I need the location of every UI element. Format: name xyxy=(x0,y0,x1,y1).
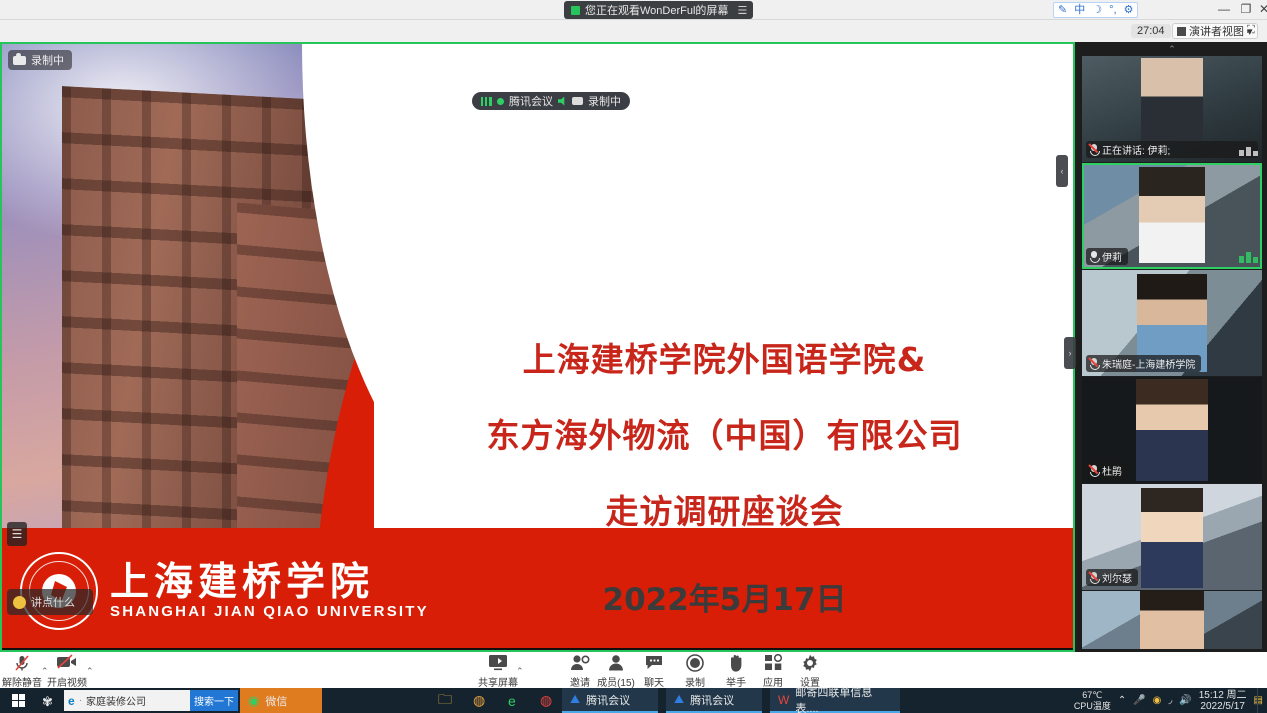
search-value: 家庭装修公司 xyxy=(86,693,146,708)
microphone-muted-icon xyxy=(1090,572,1098,583)
meeting-toolbar: 解除静音 ⌃ 开启视频 ⌃ 共享屏幕 xyxy=(0,652,1267,688)
meeting-status-pill: 腾讯会议 录制中 xyxy=(472,92,630,110)
expand-strip-button[interactable]: › xyxy=(1064,337,1076,369)
participant-video xyxy=(1140,591,1204,649)
video-options-caret-icon[interactable]: ⌃ xyxy=(86,666,94,677)
search-input[interactable]: e · 家庭装修公司 xyxy=(64,690,190,711)
ime-gear-icon[interactable]: ⚙ xyxy=(1124,3,1134,17)
microphone-tray-icon[interactable]: 🎤 xyxy=(1133,695,1145,706)
slide-title: 上海建桥学院外国语学院& 东方海外物流（中国）有限公司 走访调研座谈会 xyxy=(392,322,1057,550)
slide-title-line-3: 走访调研座谈会 xyxy=(392,474,1057,550)
chrome-icon: ◍ xyxy=(540,692,552,709)
edge-icon: e xyxy=(68,694,75,708)
participant-tile[interactable]: 杜鹃 xyxy=(1082,377,1262,483)
participant-video xyxy=(1141,488,1203,588)
security-tray-icon[interactable]: ◉ xyxy=(1153,695,1162,706)
participant-video xyxy=(1141,58,1203,142)
volume-meter xyxy=(1239,252,1258,263)
participant-name: 朱瑞庭-上海建桥学院 xyxy=(1102,356,1195,371)
cortana-icon[interactable]: ✾ xyxy=(42,694,56,708)
taskbar-item-chrome-canary[interactable]: ◍ xyxy=(465,688,493,713)
edge-icon: e xyxy=(508,693,516,709)
strip-scroll-up-button[interactable]: ⌃ xyxy=(1077,42,1267,56)
slide-date: 2022年5月17日 xyxy=(392,574,1057,619)
microphone-muted-icon xyxy=(1090,358,1098,369)
gear-icon xyxy=(781,654,839,672)
share-banner-menu-icon[interactable]: ☰ xyxy=(737,4,746,17)
start-button-icon[interactable] xyxy=(12,694,25,707)
participant-strip[interactable]: ⌃ 正在讲话: 伊莉; 伊莉 xyxy=(1077,42,1267,652)
taskbar-item-label: 邮寄四联单信息表.... xyxy=(795,684,892,713)
speaking-label: 正在讲话: 伊莉; xyxy=(1102,142,1170,157)
presentation-slide: 上海建桥学院外国语学院& 东方海外物流（中国）有限公司 走访调研座谈会 2022… xyxy=(2,44,1073,648)
mini-comment-widget[interactable]: 讲点什么 xyxy=(7,589,93,615)
tencent-meeting-icon: ⛰ xyxy=(570,692,580,707)
network-tray-icon[interactable]: ◞ xyxy=(1168,695,1172,706)
recording-label: 录制中 xyxy=(31,52,64,68)
emoji-icon xyxy=(13,596,26,609)
fullscreen-button[interactable]: ⛶ xyxy=(1247,24,1255,37)
shared-screen-stage[interactable]: 上海建桥学院外国语学院& 东方海外物流（中国）有限公司 走访调研座谈会 2022… xyxy=(0,42,1075,652)
participant-nameplate: 刘尔瑟 xyxy=(1086,569,1138,586)
participant-name: 杜鹃 xyxy=(1102,463,1122,478)
pill-recording-label: 录制中 xyxy=(588,93,621,109)
screen: 您正在观看WonDerFul的屏幕 ☰ ✎ 中 ☽ °, ⚙ — ❐ ✕ 27:… xyxy=(0,0,1267,713)
chrome-canary-icon: ◍ xyxy=(473,692,485,709)
participant-tile[interactable]: 刘尔瑟 xyxy=(1082,484,1262,590)
meeting-header-bar xyxy=(0,20,1267,42)
meeting-timer: 27:04 xyxy=(1131,24,1171,38)
taskbar-item-wps[interactable]: W 邮寄四联单信息表.... xyxy=(770,688,900,713)
share-options-caret-icon[interactable]: ⌃ xyxy=(516,666,524,677)
status-dot-icon xyxy=(497,98,504,105)
screen-share-banner[interactable]: 您正在观看WonDerFul的屏幕 ☰ xyxy=(564,1,753,19)
share-banner-text: 您正在观看WonDerFul的屏幕 xyxy=(585,2,728,18)
ime-language-icon[interactable]: 中 xyxy=(1074,3,1085,17)
participant-video xyxy=(1139,167,1205,263)
participant-video xyxy=(1136,379,1208,481)
speaker-view-icon xyxy=(1177,27,1186,36)
file-explorer-icon: 🗀 xyxy=(438,689,452,713)
floating-menu-button[interactable]: ☰ xyxy=(7,522,27,546)
participant-tile[interactable] xyxy=(1082,591,1262,649)
ime-pen-icon[interactable]: ✎ xyxy=(1058,3,1067,17)
wps-icon: W xyxy=(778,693,789,707)
top-system-bar: 您正在观看WonDerFul的屏幕 ☰ ✎ 中 ☽ °, ⚙ — ❐ ✕ xyxy=(0,0,1267,20)
cpu-temperature: 67℃ CPU温度 xyxy=(1074,690,1111,712)
collapse-strip-button[interactable]: ‹ xyxy=(1056,155,1068,187)
microphone-icon xyxy=(1090,251,1098,262)
taskbar-item-edge[interactable]: e xyxy=(500,688,524,713)
system-tray: 67℃ CPU温度 ⌃ 🎤 ◉ ◞ 🔊 15:12 周二 2022/5/17 ▤ xyxy=(1074,688,1263,713)
view-mode-selector[interactable]: 演讲者视图 ▾ xyxy=(1172,23,1258,39)
participant-tile[interactable]: 正在讲话: 伊莉; xyxy=(1082,56,1262,162)
windows-taskbar: ✾ e · 家庭装修公司 搜索一下 ◉ 微信 🗀 ◍ e ◍ ⛰ 腾讯会议 ⛰ xyxy=(0,688,1267,713)
signal-icon xyxy=(481,97,492,106)
search-button[interactable]: 搜索一下 xyxy=(190,690,238,711)
ime-toolbar[interactable]: ✎ 中 ☽ °, ⚙ xyxy=(1053,2,1138,18)
window-minimize-button[interactable]: — xyxy=(1213,2,1235,16)
participant-nameplate: 杜鹃 xyxy=(1086,462,1128,479)
clock-date: 2022/5/17 xyxy=(1199,701,1247,712)
taskbar-item-label: 腾讯会议 xyxy=(690,692,734,708)
mini-comment-label: 讲点什么 xyxy=(31,594,75,610)
window-close-button[interactable]: ✕ xyxy=(1253,2,1267,16)
microphone-muted-icon xyxy=(1090,144,1098,155)
participant-tile[interactable]: 朱瑞庭-上海建桥学院 xyxy=(1082,270,1262,376)
participant-name: 刘尔瑟 xyxy=(1102,570,1132,585)
tray-expand-icon[interactable]: ⌃ xyxy=(1118,695,1126,706)
university-name-cn: 上海建桥学院 xyxy=(110,562,429,603)
taskbar-item-file-explorer[interactable]: 🗀 xyxy=(430,688,460,713)
record-camera-icon xyxy=(13,56,26,65)
slide-title-line-1: 上海建桥学院外国语学院& xyxy=(392,322,1057,398)
taskbar-item-chrome[interactable]: ◍ xyxy=(532,688,560,713)
cpu-temp-label: CPU温度 xyxy=(1074,701,1111,712)
participant-name: 伊莉 xyxy=(1102,249,1122,264)
speaker-icon xyxy=(558,97,567,106)
taskbar-clock[interactable]: 15:12 周二 2022/5/17 xyxy=(1199,690,1247,712)
taskbar-item-label: 腾讯会议 xyxy=(586,692,630,708)
participant-tile[interactable]: 伊莉 xyxy=(1082,163,1262,269)
tencent-meeting-icon: ⛰ xyxy=(674,692,684,707)
microphone-muted-icon xyxy=(1090,465,1098,476)
view-mode-label: 演讲者视图 xyxy=(1189,23,1244,39)
meeting-app-name: 腾讯会议 xyxy=(509,93,553,109)
participant-nameplate: 朱瑞庭-上海建桥学院 xyxy=(1086,355,1201,372)
cpu-temp-value: 67℃ xyxy=(1074,690,1111,701)
ime-moon-icon[interactable]: ☽ xyxy=(1092,3,1102,17)
clock-time: 15:12 周二 xyxy=(1199,690,1247,701)
taskbar-item-label: 微信 xyxy=(265,693,287,709)
speaking-overlay: 正在讲话: 伊莉; xyxy=(1086,141,1258,158)
recording-indicator: 录制中 xyxy=(8,50,72,70)
volume-tray-icon[interactable]: 🔊 xyxy=(1179,695,1191,706)
wechat-icon: ◉ xyxy=(248,693,259,709)
university-name-en: SHANGHAI JIAN QIAO UNIVERSITY xyxy=(110,603,429,620)
recording-camera-icon xyxy=(572,97,583,105)
participant-nameplate: 伊莉 xyxy=(1086,248,1128,265)
taskbar-item-tencent-meeting-2[interactable]: ⛰ 腾讯会议 xyxy=(666,688,762,713)
ime-punctuation-icon[interactable]: °, xyxy=(1109,3,1116,17)
share-active-icon xyxy=(571,6,580,15)
taskbar-item-tencent-meeting-1[interactable]: ⛰ 腾讯会议 xyxy=(562,688,658,713)
volume-meter xyxy=(1239,147,1258,156)
slide-title-line-2: 东方海外物流（中国）有限公司 xyxy=(392,398,1057,474)
show-desktop-button[interactable] xyxy=(1257,688,1263,713)
taskbar-item-wechat[interactable]: ◉ 微信 xyxy=(240,688,322,713)
